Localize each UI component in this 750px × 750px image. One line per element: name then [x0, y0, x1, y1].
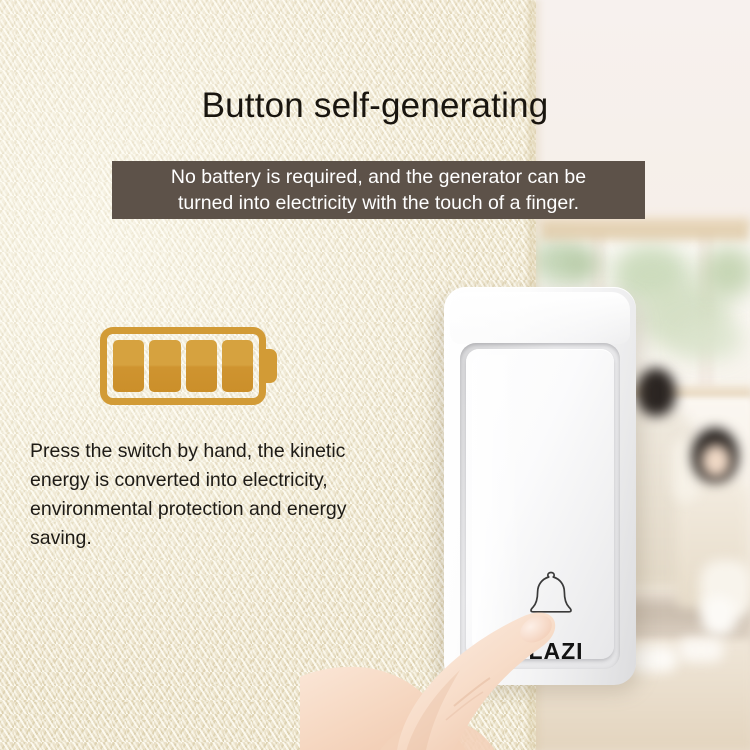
- foliage-blob: [566, 250, 600, 280]
- product-image-canvas: Button self-generating No battery is req…: [0, 0, 750, 750]
- subtitle-line-1: No battery is required, and the generato…: [171, 164, 586, 190]
- feature-description-line: Press the switch by hand, the kinetic: [30, 437, 430, 466]
- blurred-child-face: [701, 444, 731, 478]
- blurred-child-sock: [702, 596, 736, 636]
- foliage-blob: [678, 320, 744, 360]
- foliage-blob: [700, 246, 750, 298]
- battery-terminal-icon: [266, 349, 277, 383]
- subtitle-banner: No battery is required, and the generato…: [112, 161, 645, 219]
- blurred-shoe: [678, 638, 724, 662]
- blurred-adult-head: [636, 368, 676, 416]
- battery-icon: [100, 327, 266, 405]
- battery-cell: [113, 340, 144, 392]
- feature-description-line: energy is converted into electricity,: [30, 466, 430, 495]
- battery-cell: [149, 340, 180, 392]
- device-plate-bevel: [450, 292, 630, 344]
- battery-cell: [186, 340, 217, 392]
- battery-cell: [222, 340, 253, 392]
- page-title: Button self-generating: [0, 86, 750, 126]
- window-sill: [540, 218, 750, 240]
- pressing-hand: [300, 520, 620, 750]
- subtitle-line-2: turned into electricity with the touch o…: [178, 190, 579, 216]
